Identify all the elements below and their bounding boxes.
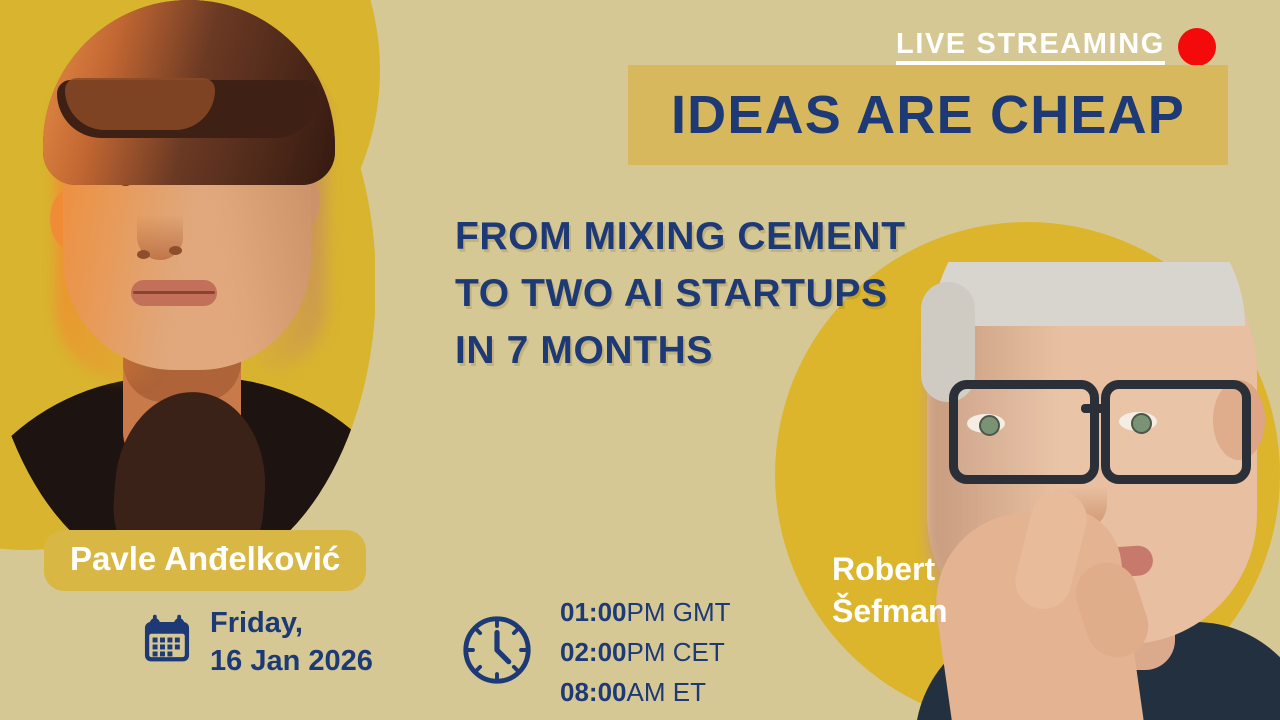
event-date-text: Friday, 16 Jan 2026 [210,604,373,680]
time-zone: PM GMT [627,597,731,627]
time-value: 02:00 [560,637,627,667]
photo-left-lip-line [133,291,215,294]
webinar-promo-banner: LIVE STREAMING IDEAS ARE CHEAP FROM MIXI… [0,0,1280,720]
time-zone: AM ET [627,677,706,707]
photo-left-nostril-left [137,250,150,259]
time-value: 01:00 [560,597,627,627]
event-time-block: 01:00PM GMT 02:00PM CET 08:00AM ET [458,592,731,712]
time-value: 08:00 [560,677,627,707]
live-streaming-label: LIVE STREAMING [896,30,1165,65]
photo-right-glasses [943,380,1255,472]
subtitle-line-2: TO TWO AI STARTUPS [455,265,1115,322]
page-title: IDEAS ARE CHEAP [671,88,1185,142]
live-streaming-badge: LIVE STREAMING [896,28,1216,66]
time-row: 02:00PM CET [560,637,725,667]
calendar-icon [140,613,194,672]
subtitle-line-3: IN 7 MONTHS [455,322,1115,379]
speaker-photo-left [0,0,375,592]
subtitle-line-1: FROM MIXING CEMENT [455,208,1115,265]
time-row: 01:00PM GMT [560,597,731,627]
event-day: Friday, [210,607,303,639]
live-red-dot-icon [1178,28,1216,66]
glasses-lens-left [949,380,1099,484]
time-row: 08:00AM ET [560,677,706,707]
episode-subtitle: FROM MIXING CEMENT TO TWO AI STARTUPS IN… [455,208,1115,379]
event-date: 16 Jan 2026 [210,645,373,677]
speaker-right-last-name: Šefman [832,590,948,632]
glasses-bridge [1081,404,1107,413]
show-title-box: IDEAS ARE CHEAP [628,65,1228,165]
event-date-block: Friday, 16 Jan 2026 [140,604,373,680]
event-time-list: 01:00PM GMT 02:00PM CET 08:00AM ET [560,592,731,712]
time-zone: PM CET [627,637,725,667]
speaker-name-left: Pavle Anđelković [44,530,366,591]
photo-left-nostril-right [169,246,182,255]
speaker-right-first-name: Robert [832,548,948,590]
photo-left-fringe-highlight [65,78,215,130]
glasses-lens-right [1101,380,1251,484]
speaker-name-right: Robert Šefman [832,548,948,632]
clock-icon [458,611,536,694]
